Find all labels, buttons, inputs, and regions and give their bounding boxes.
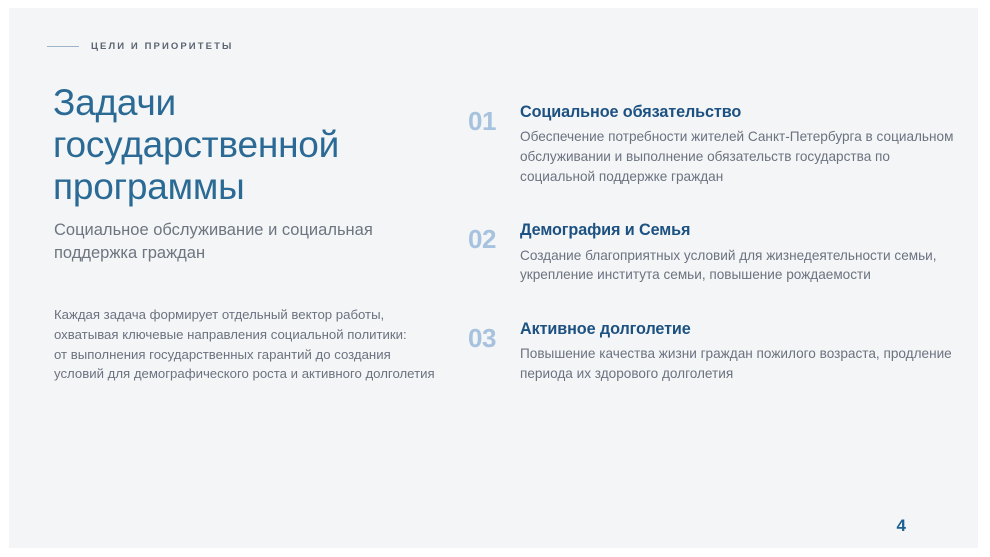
list-item: 02 Демография и Семья Создание благоприя…	[468, 221, 958, 285]
page-title: Задачи государственной программы	[53, 82, 433, 207]
page-number: 4	[897, 516, 906, 536]
goal-list: 01 Социальное обязательство Обеспечение …	[468, 103, 958, 383]
slide: ЦЕЛИ И ПРИОРИТЕТЫ Задачи государственной…	[0, 0, 990, 557]
list-item: 01 Социальное обязательство Обеспечение …	[468, 103, 958, 186]
goal-number: 02	[468, 221, 520, 252]
goal-title: Активное долголетие	[520, 320, 958, 339]
body-paragraph: Каждая задача формирует отдельный вектор…	[54, 305, 444, 384]
goal-number: 01	[468, 103, 520, 134]
section-eyebrow: ЦЕЛИ И ПРИОРИТЕТЫ	[47, 41, 233, 52]
goal-title: Демография и Семья	[520, 221, 958, 240]
goal-content: Активное долголетие Повышение качества ж…	[520, 320, 958, 384]
goal-description: Создание благоприятных условий для жизне…	[520, 246, 958, 285]
list-item: 03 Активное долголетие Повышение качеств…	[468, 320, 958, 384]
eyebrow-rule-icon	[47, 46, 79, 47]
goal-description: Обеспечение потребности жителей Санкт-Пе…	[520, 127, 958, 186]
content-panel: ЦЕЛИ И ПРИОРИТЕТЫ Задачи государственной…	[9, 8, 978, 548]
eyebrow-label: ЦЕЛИ И ПРИОРИТЕТЫ	[91, 41, 233, 52]
goal-content: Социальное обязательство Обеспечение пот…	[520, 103, 958, 186]
left-column: ЦЕЛИ И ПРИОРИТЕТЫ Задачи государственной…	[9, 8, 435, 548]
goal-content: Демография и Семья Создание благоприятны…	[520, 221, 958, 285]
goal-title: Социальное обязательство	[520, 103, 958, 122]
goal-description: Повышение качества жизни граждан пожилог…	[520, 344, 958, 383]
page-subtitle: Социальное обслуживание и социальная под…	[54, 219, 434, 265]
goal-number: 03	[468, 320, 520, 351]
right-column: 01 Социальное обязательство Обеспечение …	[435, 8, 978, 548]
